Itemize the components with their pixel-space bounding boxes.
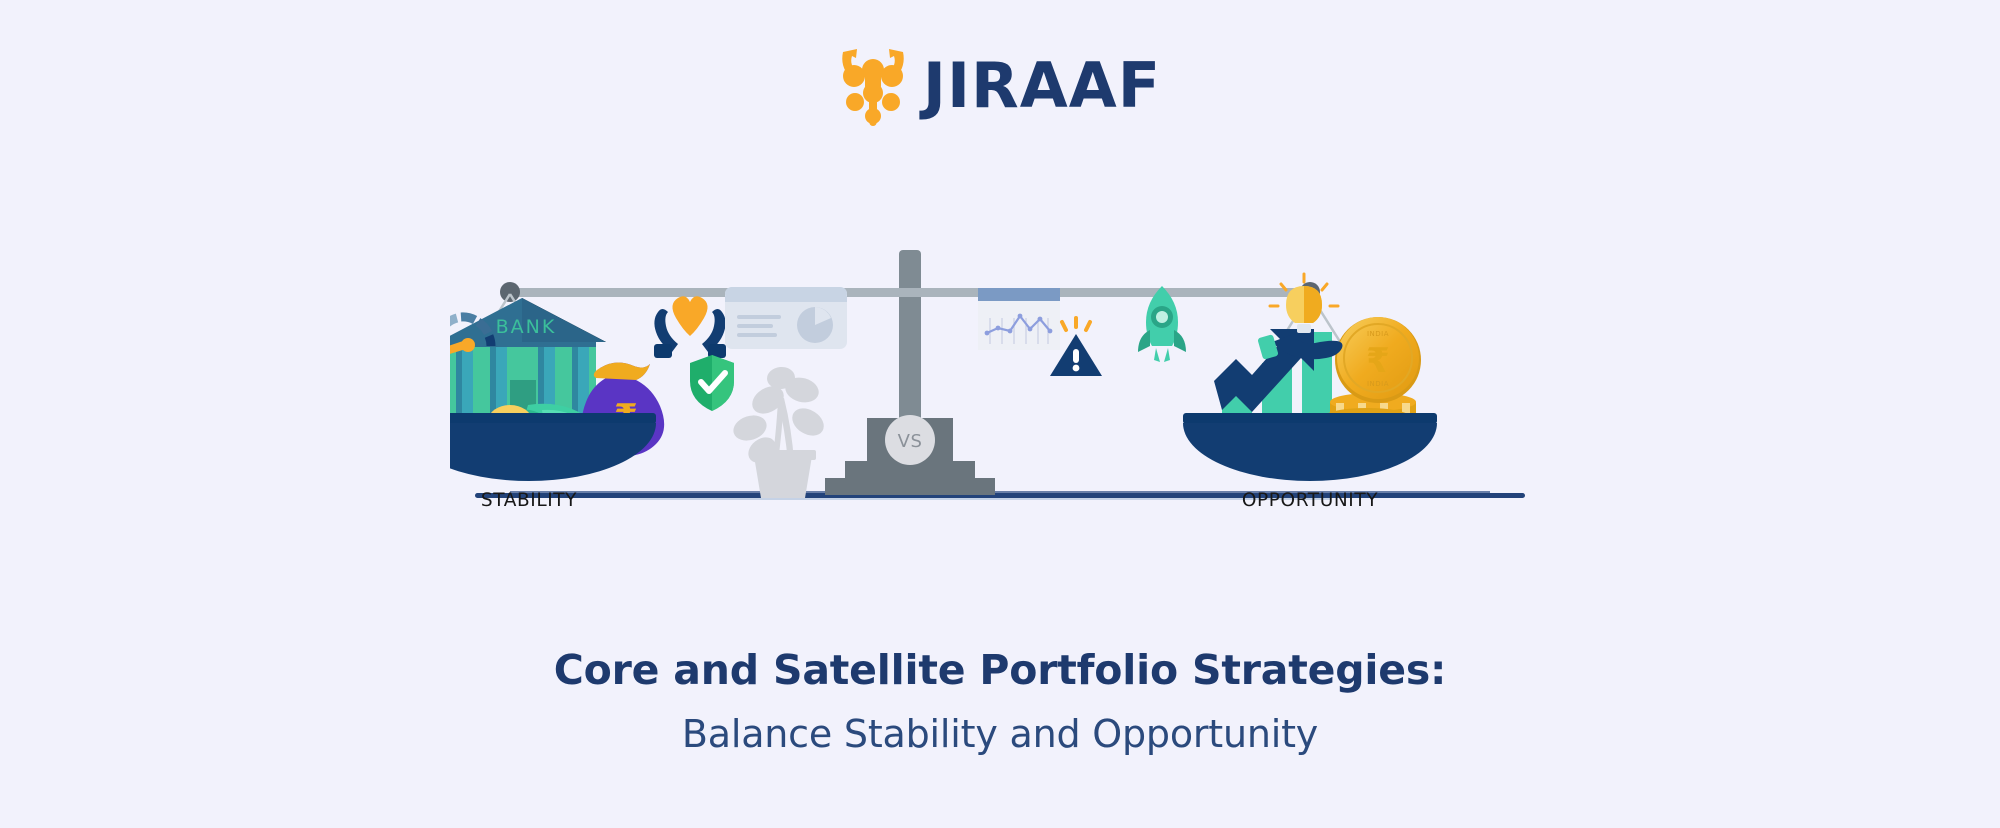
headings-block: Core and Satellite Portfolio Strategies:… bbox=[0, 645, 2000, 760]
coin-rupee-symbol: ₹ bbox=[1366, 341, 1390, 381]
page-subtitle: Balance Stability and Opportunity bbox=[0, 710, 2000, 759]
rocket-icon bbox=[1138, 286, 1186, 362]
scale-svg: VS BA bbox=[450, 250, 1550, 650]
left-pan-label: STABILITY bbox=[481, 490, 577, 511]
right-pan-bowl bbox=[1183, 413, 1437, 481]
coin-country-label-bottom: INDIA bbox=[1367, 380, 1389, 388]
bank-label: BANK bbox=[496, 316, 557, 338]
shield-check-icon bbox=[690, 355, 734, 411]
left-pan-bowl bbox=[450, 413, 656, 481]
brand-logo[interactable]: JIRAAF bbox=[0, 46, 2000, 126]
page-title: Core and Satellite Portfolio Strategies: bbox=[0, 645, 2000, 696]
brand-wordmark: JIRAAF bbox=[923, 55, 1161, 117]
page-root: JIRAAF bbox=[0, 0, 2000, 828]
balance-scale-illustration: VS BA bbox=[0, 250, 2000, 650]
vs-badge-label: VS bbox=[898, 431, 923, 452]
lightbulb-in-hand-icon bbox=[1257, 274, 1342, 360]
right-pan-label: OPPORTUNITY bbox=[1242, 490, 1378, 511]
coin-country-label: INDIA bbox=[1367, 330, 1389, 338]
line-chart-card-icon bbox=[978, 288, 1060, 350]
heart-in-hands-icon bbox=[654, 296, 726, 358]
scale-pedestal: VS bbox=[825, 250, 995, 495]
dashboard-pie-chart-card-icon bbox=[725, 287, 847, 349]
jiraaf-molecule-logo-icon bbox=[839, 46, 907, 126]
beam-pivot-left bbox=[500, 282, 520, 302]
potted-plant-icon bbox=[730, 366, 829, 498]
